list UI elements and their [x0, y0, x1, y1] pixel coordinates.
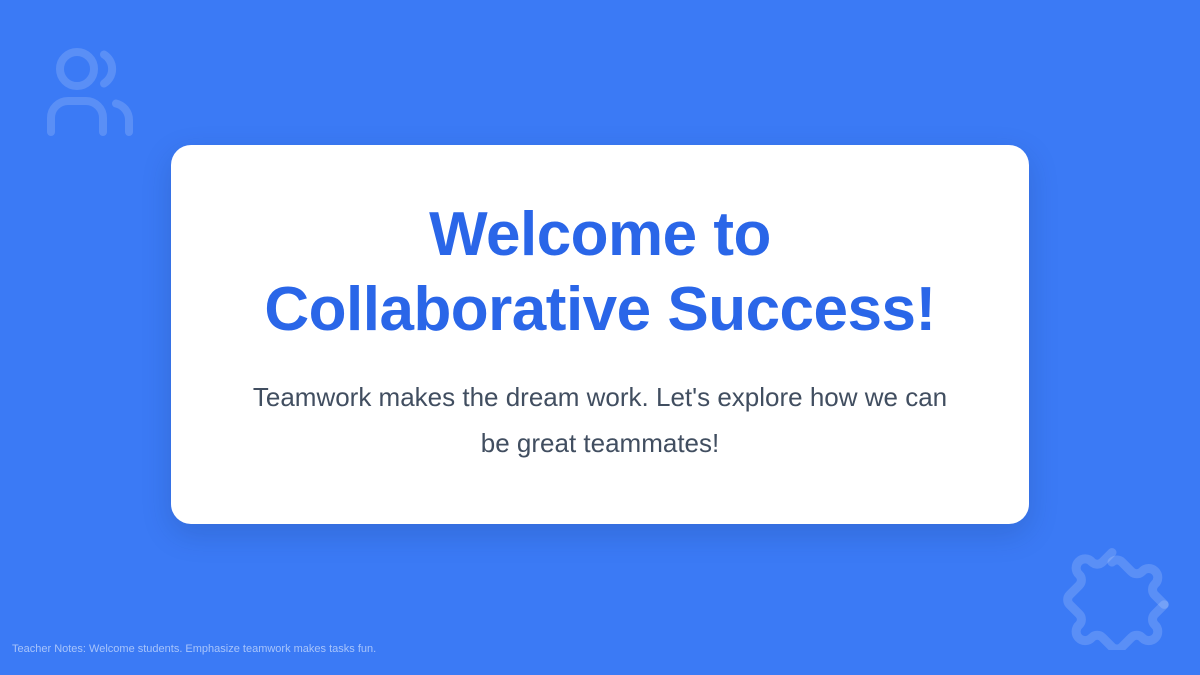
users-icon: [44, 44, 140, 140]
slide-subtitle: Teamwork makes the dream work. Let's exp…: [235, 374, 965, 467]
slide-canvas: Welcome to Collaborative Success! Teamwo…: [0, 0, 1200, 675]
slide-title: Welcome to Collaborative Success!: [229, 197, 971, 348]
content-card: Welcome to Collaborative Success! Teamwo…: [171, 145, 1029, 524]
teacher-notes: Teacher Notes: Welcome students. Emphasi…: [12, 642, 376, 656]
puzzle-piece-icon: [1058, 538, 1170, 650]
